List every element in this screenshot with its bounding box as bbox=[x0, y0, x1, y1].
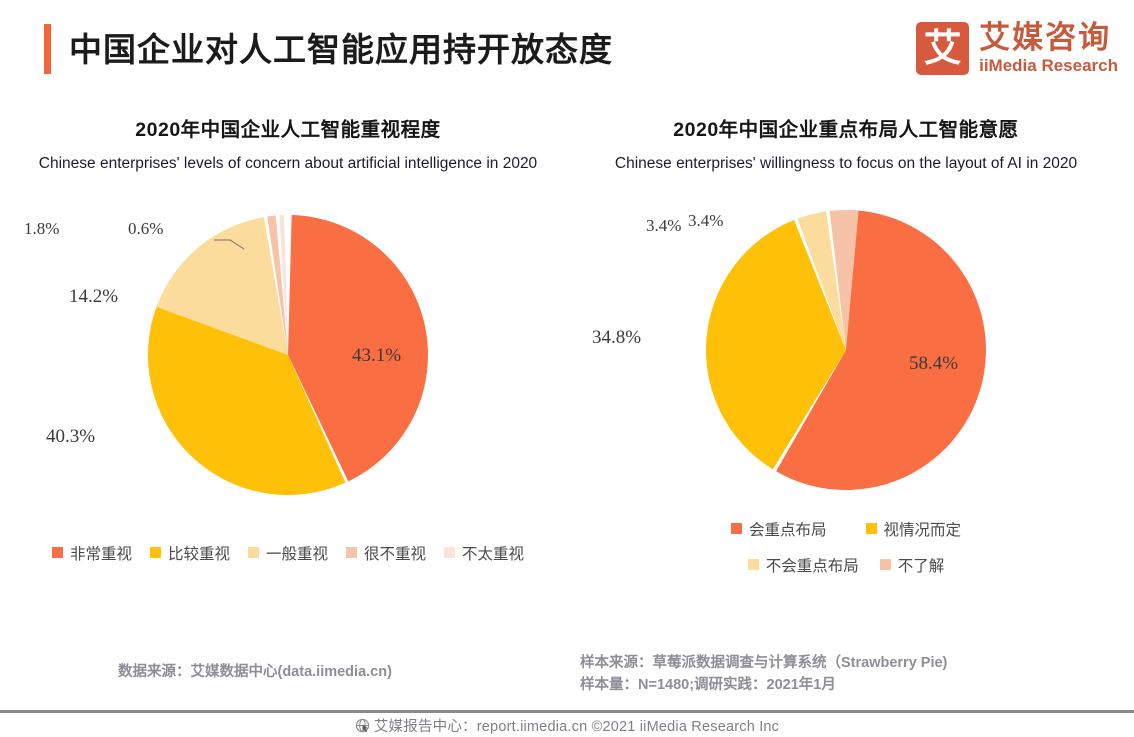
legend-label-1: 会重点布局 bbox=[749, 518, 827, 540]
legend-swatch-icon bbox=[150, 547, 161, 558]
legend-label-2: 比较重视 bbox=[168, 542, 230, 564]
legend-label-5: 不太重视 bbox=[462, 542, 524, 564]
chart-title-right: 2020年中国企业重点布局人工智能意愿 bbox=[566, 118, 1126, 142]
legend-row: 非常重视 比较重视 一般重视 很不重视 不太重视 bbox=[8, 542, 568, 564]
chart-subtitle-left: Chinese enterprises' levels of concern a… bbox=[8, 152, 568, 175]
pie-chart-left: 43.1% 40.3% 14.2% 1.8% 0.6% bbox=[8, 210, 568, 510]
footer-text: 艾媒报告中心：report.iimedia.cn ©2021 iiMedia R… bbox=[374, 715, 779, 736]
logo-text-group: 艾媒咨询 iiMedia Research bbox=[979, 22, 1118, 75]
legend-item-3[interactable]: 不会重点布局 bbox=[748, 554, 859, 576]
legend-label-3: 一般重视 bbox=[266, 542, 328, 564]
chart-legend-left: 非常重视 比较重视 一般重视 很不重视 不太重视 bbox=[8, 542, 568, 564]
source-note-right: 样本来源：草莓派数据调查与计算系统（Strawberry Pie) 样本量：N=… bbox=[580, 652, 947, 697]
chart-panel-left: 2020年中国企业人工智能重视程度 Chinese enterprises' l… bbox=[8, 118, 568, 678]
legend-label-3: 不会重点布局 bbox=[766, 554, 859, 576]
pie-value-label-4: 3.4% bbox=[688, 211, 723, 231]
source-note-right-line2: 样本量：N=1480;调研实践：2021年1月 bbox=[580, 674, 947, 696]
pie-value-label-3: 14.2% bbox=[69, 286, 118, 308]
legend-item-2[interactable]: 比较重视 bbox=[150, 542, 230, 564]
pie-value-label-3: 3.4% bbox=[646, 216, 681, 236]
legend-swatch-icon bbox=[866, 523, 877, 534]
legend-swatch-icon bbox=[52, 547, 63, 558]
globe-icon bbox=[355, 718, 370, 733]
legend-swatch-icon bbox=[346, 547, 357, 558]
page-title-group: 中国企业对人工智能应用持开放态度 bbox=[44, 24, 613, 74]
legend-label-4: 不了解 bbox=[898, 554, 945, 576]
legend-row: 不会重点布局 不了解 bbox=[566, 554, 1126, 576]
pie-svg-right bbox=[706, 210, 986, 490]
pie-chart-right: 58.4% 34.8% 3.4% 3.4% bbox=[566, 210, 1126, 500]
logo-name-cn: 艾媒咨询 bbox=[979, 22, 1118, 55]
legend-item-1[interactable]: 会重点布局 bbox=[731, 518, 827, 540]
title-accent-bar bbox=[44, 24, 51, 74]
source-note-right-line1: 样本来源：草莓派数据调查与计算系统（Strawberry Pie) bbox=[580, 652, 947, 674]
pie-value-label-2: 40.3% bbox=[46, 426, 95, 448]
legend-item-1[interactable]: 非常重视 bbox=[52, 542, 132, 564]
pie-value-label-1: 43.1% bbox=[352, 345, 401, 367]
legend-swatch-icon bbox=[248, 547, 259, 558]
brand-logo: 艾 艾媒咨询 iiMedia Research bbox=[916, 22, 1118, 75]
legend-item-5[interactable]: 不太重视 bbox=[444, 542, 524, 564]
pie-value-label-2: 34.8% bbox=[592, 327, 641, 349]
page-footer: 艾媒报告中心：report.iimedia.cn ©2021 iiMedia R… bbox=[0, 713, 1134, 737]
source-note-left: 数据来源：艾媒数据中心(data.iimedia.cn) bbox=[118, 661, 392, 683]
legend-label-4: 很不重视 bbox=[364, 542, 426, 564]
report-slide: 中国企业对人工智能应用持开放态度 艾 艾媒咨询 iiMedia Research… bbox=[0, 0, 1134, 737]
chart-subtitle-right: Chinese enterprises' willingness to focu… bbox=[566, 152, 1126, 175]
pie-value-label-4: 1.8% bbox=[24, 219, 59, 239]
legend-swatch-icon bbox=[748, 559, 759, 570]
pie-value-label-5: 0.6% bbox=[128, 219, 163, 239]
legend-swatch-icon bbox=[444, 547, 455, 558]
chart-legend-right: 会重点布局 视情况而定 不会重点布局 不了解 bbox=[566, 518, 1126, 576]
logo-name-en: iiMedia Research bbox=[979, 56, 1118, 76]
pie-value-label-1: 58.4% bbox=[909, 353, 958, 375]
legend-item-3[interactable]: 一般重视 bbox=[248, 542, 328, 564]
page-title: 中国企业对人工智能应用持开放态度 bbox=[69, 33, 613, 66]
legend-row: 会重点布局 视情况而定 bbox=[566, 518, 1126, 540]
legend-swatch-icon bbox=[880, 559, 891, 570]
logo-mark-icon: 艾 bbox=[916, 22, 969, 75]
chart-title-left: 2020年中国企业人工智能重视程度 bbox=[8, 118, 568, 142]
legend-item-4[interactable]: 不了解 bbox=[880, 554, 945, 576]
legend-swatch-icon bbox=[731, 523, 742, 534]
legend-label-1: 非常重视 bbox=[70, 542, 132, 564]
page-header: 中国企业对人工智能应用持开放态度 艾 艾媒咨询 iiMedia Research bbox=[0, 0, 1134, 104]
legend-item-4[interactable]: 很不重视 bbox=[346, 542, 426, 564]
legend-item-2[interactable]: 视情况而定 bbox=[866, 518, 962, 540]
legend-label-2: 视情况而定 bbox=[884, 518, 962, 540]
chart-panel-right: 2020年中国企业重点布局人工智能意愿 Chinese enterprises'… bbox=[566, 118, 1126, 678]
